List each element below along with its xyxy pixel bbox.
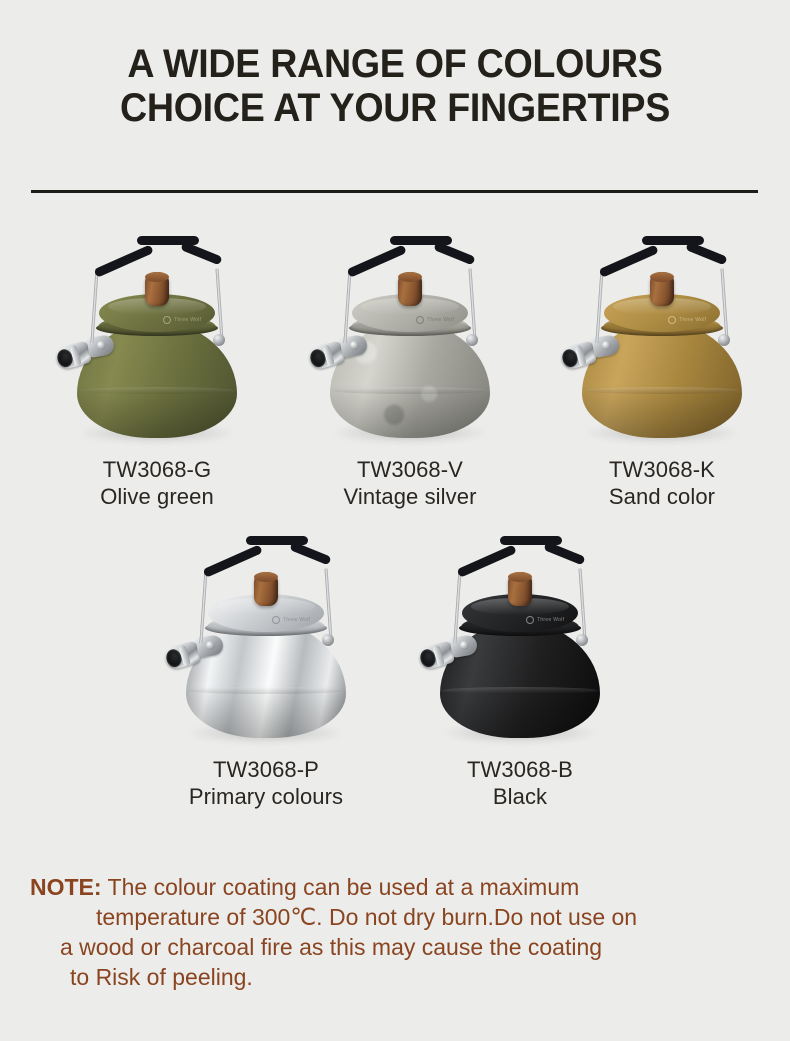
product-colour-name: Vintage silver — [285, 483, 535, 510]
bail-handle — [395, 528, 645, 750]
product-card-sand-color[interactable]: Three Wolf — [537, 228, 787, 510]
product-colour-options-page: A WIDE RANGE OF COLOURS CHOICE AT YOUR F… — [0, 0, 790, 1041]
handle-grip-left — [457, 544, 517, 577]
handle-lug-right — [213, 334, 225, 346]
handle-grip-right — [543, 541, 585, 565]
product-colour-name: Olive green — [32, 483, 282, 510]
title-divider — [31, 190, 758, 193]
product-image-olive-green: Three Wolf — [32, 228, 282, 450]
handle-leg-left — [90, 268, 98, 344]
bail-handle — [285, 228, 535, 450]
kettle-illustration: Three Wolf — [141, 528, 391, 750]
handle-grip-right — [180, 241, 222, 265]
kettle-illustration: Three Wolf — [395, 528, 645, 750]
product-caption: TW3068-P Primary colours — [141, 756, 391, 810]
handle-leg-right — [324, 568, 332, 640]
product-colour-name: Black — [395, 783, 645, 810]
product-colour-name: Primary colours — [141, 783, 391, 810]
handle-grip-left — [347, 244, 407, 277]
product-card-primary-colours[interactable]: Three Wolf — [141, 528, 391, 810]
product-caption: TW3068-K Sand color — [537, 456, 787, 510]
product-image-primary-colours: Three Wolf — [141, 528, 391, 750]
handle-lug-right — [322, 634, 334, 646]
kettle-illustration: Three Wolf — [537, 228, 787, 450]
product-sku: TW3068-G — [32, 456, 282, 483]
note-text-1: The colour coating can be used at a maxi… — [108, 874, 580, 900]
handle-grip-right — [289, 541, 331, 565]
page-title-line-2: CHOICE AT YOUR FINGERTIPS — [24, 86, 767, 130]
bail-handle — [141, 528, 391, 750]
handle-lug-right — [718, 334, 730, 346]
product-sku: TW3068-B — [395, 756, 645, 783]
handle-lug-right — [576, 634, 588, 646]
handle-leg-right — [468, 268, 476, 340]
handle-leg-left — [343, 268, 351, 344]
handle-lug-right — [466, 334, 478, 346]
product-image-black: Three Wolf — [395, 528, 645, 750]
product-caption: TW3068-B Black — [395, 756, 645, 810]
product-sku: TW3068-P — [141, 756, 391, 783]
note-line-4: to Risk of peeling. — [30, 962, 770, 992]
handle-leg-right — [578, 568, 586, 640]
note-line-3: a wood or charcoal fire as this may caus… — [30, 932, 770, 962]
bail-handle — [32, 228, 282, 450]
handle-grip-left — [599, 244, 659, 277]
product-caption: TW3068-V Vintage silver — [285, 456, 535, 510]
product-card-olive-green[interactable]: Three Wolf — [32, 228, 282, 510]
handle-grip-right — [433, 241, 475, 265]
product-image-vintage-silver: Three Wolf — [285, 228, 535, 450]
handle-grip-left — [203, 544, 263, 577]
product-caption: TW3068-G Olive green — [32, 456, 282, 510]
bail-handle — [537, 228, 787, 450]
product-colour-name: Sand color — [537, 483, 787, 510]
handle-grip-left — [94, 244, 154, 277]
product-sku: TW3068-V — [285, 456, 535, 483]
handle-leg-left — [595, 268, 603, 344]
product-image-sand-color: Three Wolf — [537, 228, 787, 450]
handle-leg-right — [720, 268, 728, 340]
product-card-black[interactable]: Three Wolf — [395, 528, 645, 810]
page-title: A WIDE RANGE OF COLOURS CHOICE AT YOUR F… — [24, 42, 767, 130]
note-keyword: NOTE: — [30, 874, 102, 900]
note-line-2: temperature of 300℃. Do not dry burn.Do … — [30, 902, 770, 932]
handle-grip-right — [685, 241, 727, 265]
page-title-line-1: A WIDE RANGE OF COLOURS — [127, 42, 662, 86]
kettle-illustration: Three Wolf — [32, 228, 282, 450]
product-sku: TW3068-K — [537, 456, 787, 483]
product-card-vintage-silver[interactable]: Three Wolf — [285, 228, 535, 510]
note-line-1: NOTE: The colour coating can be used at … — [30, 872, 770, 902]
handle-leg-left — [453, 568, 461, 644]
kettle-illustration: Three Wolf — [285, 228, 535, 450]
note-block: NOTE: The colour coating can be used at … — [30, 872, 770, 992]
handle-leg-right — [215, 268, 223, 340]
handle-leg-left — [199, 568, 207, 644]
